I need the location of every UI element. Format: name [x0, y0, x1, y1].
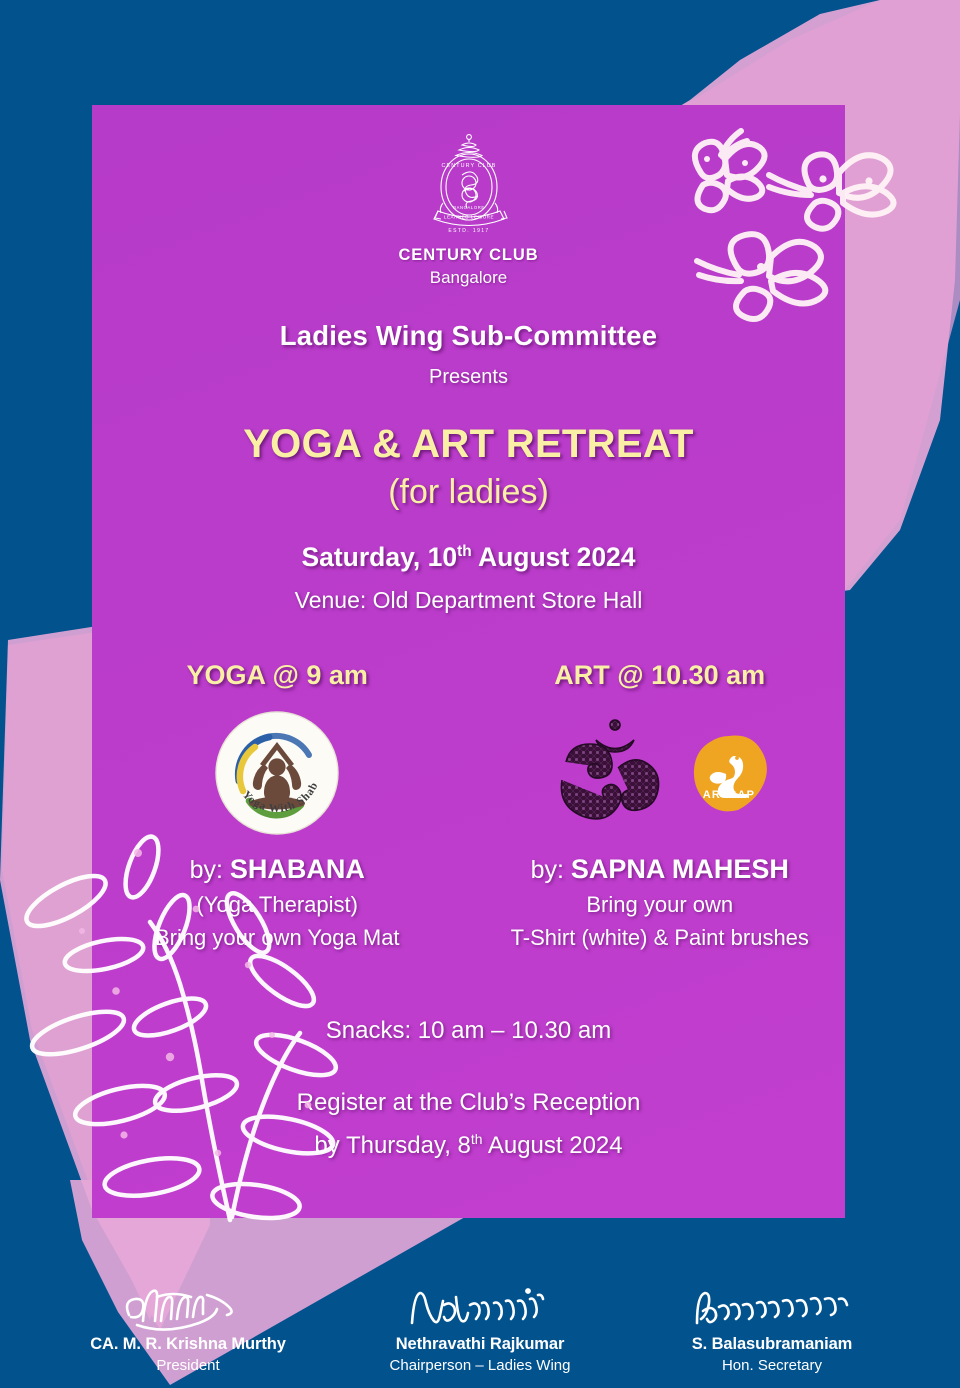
- event-date-year: August 2024: [472, 542, 636, 572]
- signature-role-president: President: [63, 1357, 313, 1374]
- nethravathi-rajkumar-signature: [355, 1281, 605, 1333]
- club-identity: CENTURY CLUB BANGALORE LEARNED LEISURE E…: [92, 131, 845, 288]
- yoga-with-shabana-logo: Yoga With Shabana: [215, 711, 339, 835]
- session-yoga-logo-slot: Yoga With Shabana: [215, 705, 339, 840]
- deadline-prefix: by Thursday, 8: [314, 1132, 471, 1159]
- page-subtitle: (for ladies): [92, 473, 845, 512]
- page-title: YOGA & ART RETREAT: [92, 422, 845, 467]
- deadline-suffix: August 2024: [483, 1132, 623, 1159]
- session-art-note-2: T-Shirt (white) & Paint brushes: [511, 922, 809, 953]
- presents-label: Presents: [92, 366, 845, 389]
- session-yoga: YOGA @ 9 am: [92, 660, 469, 953]
- session-art-note-1: Bring your own: [586, 889, 733, 920]
- poster-card: CENTURY CLUB BANGALORE LEARNED LEISURE E…: [92, 105, 845, 1218]
- krishna-murthy-signature: [63, 1281, 313, 1333]
- signature-role-secretary: Hon. Secretary: [647, 1357, 897, 1374]
- deadline-info: by Thursday, 8th August 2024: [92, 1131, 845, 1160]
- poster-canvas: CENTURY CLUB BANGALORE LEARNED LEISURE E…: [0, 0, 960, 1388]
- signature-name-secretary: S. Balasubramaniam: [647, 1335, 897, 1354]
- om-symbol-logo: [552, 714, 676, 832]
- signature-role-chairperson: Chairperson – Ladies Wing: [355, 1357, 605, 1374]
- committee-name: Ladies Wing Sub-Committee: [92, 320, 845, 352]
- century-club-crest-icon: CENTURY CLUB BANGALORE LEARNED LEISURE E…: [426, 131, 512, 239]
- session-art: ART @ 10.30 am: [469, 660, 846, 953]
- signature-name-chairperson: Nethravathi Rajkumar: [355, 1335, 605, 1354]
- session-yoga-presenter-name: SHABANA: [230, 854, 365, 884]
- headline-block: Ladies Wing Sub-Committee Presents YOGA …: [92, 320, 845, 614]
- crest-banner-text: LEARNED LEISURE: [443, 215, 493, 220]
- signature-strip: CA. M. R. Krishna Murthy President: [0, 1281, 960, 1374]
- session-art-presenter-name: SAPNA MAHESH: [571, 854, 789, 884]
- club-city: Bangalore: [430, 268, 508, 288]
- artsap-logo: ARTSAP: [690, 734, 768, 812]
- signature-block-president: CA. M. R. Krishna Murthy President: [63, 1281, 313, 1374]
- session-art-logo-slot: ARTSAP: [552, 705, 768, 840]
- session-yoga-by-label: by:: [190, 856, 230, 884]
- session-yoga-note-1: (Yoga Therapist): [197, 889, 358, 920]
- signature-block-chairperson: Nethravathi Rajkumar Chairperson – Ladie…: [355, 1281, 605, 1374]
- session-art-heading: ART @ 10.30 am: [554, 660, 765, 691]
- register-info: Register at the Club’s Reception: [92, 1089, 845, 1117]
- event-venue: Venue: Old Department Store Hall: [92, 587, 845, 614]
- info-block: Snacks: 10 am – 10.30 am Register at the…: [92, 1017, 845, 1160]
- crest-estd-text: ESTD. 1917: [448, 228, 489, 234]
- session-art-presenter: by: SAPNA MAHESH: [531, 854, 789, 885]
- snacks-info: Snacks: 10 am – 10.30 am: [92, 1017, 845, 1045]
- session-yoga-heading: YOGA @ 9 am: [187, 660, 368, 691]
- sessions-row: YOGA @ 9 am: [92, 660, 845, 953]
- signature-block-secretary: S. Balasubramaniam Hon. Secretary: [647, 1281, 897, 1374]
- balasubramaniam-signature: [647, 1281, 897, 1333]
- event-date: Saturday, 10th August 2024: [92, 542, 845, 573]
- session-yoga-note-2: Bring your own Yoga Mat: [155, 922, 400, 953]
- session-art-by-label: by:: [531, 856, 571, 884]
- club-name: CENTURY CLUB: [398, 246, 538, 265]
- event-date-ordinal: th: [457, 543, 472, 560]
- crest-arc-text: CENTURY CLUB: [441, 163, 496, 169]
- crest-city-text: BANGALORE: [453, 205, 484, 210]
- event-date-main: Saturday, 10: [301, 542, 457, 572]
- artsap-logo-label: ARTSAP: [703, 789, 755, 801]
- session-yoga-presenter: by: SHABANA: [190, 854, 365, 885]
- signature-name-president: CA. M. R. Krishna Murthy: [63, 1335, 313, 1354]
- deadline-ordinal: th: [471, 1131, 483, 1147]
